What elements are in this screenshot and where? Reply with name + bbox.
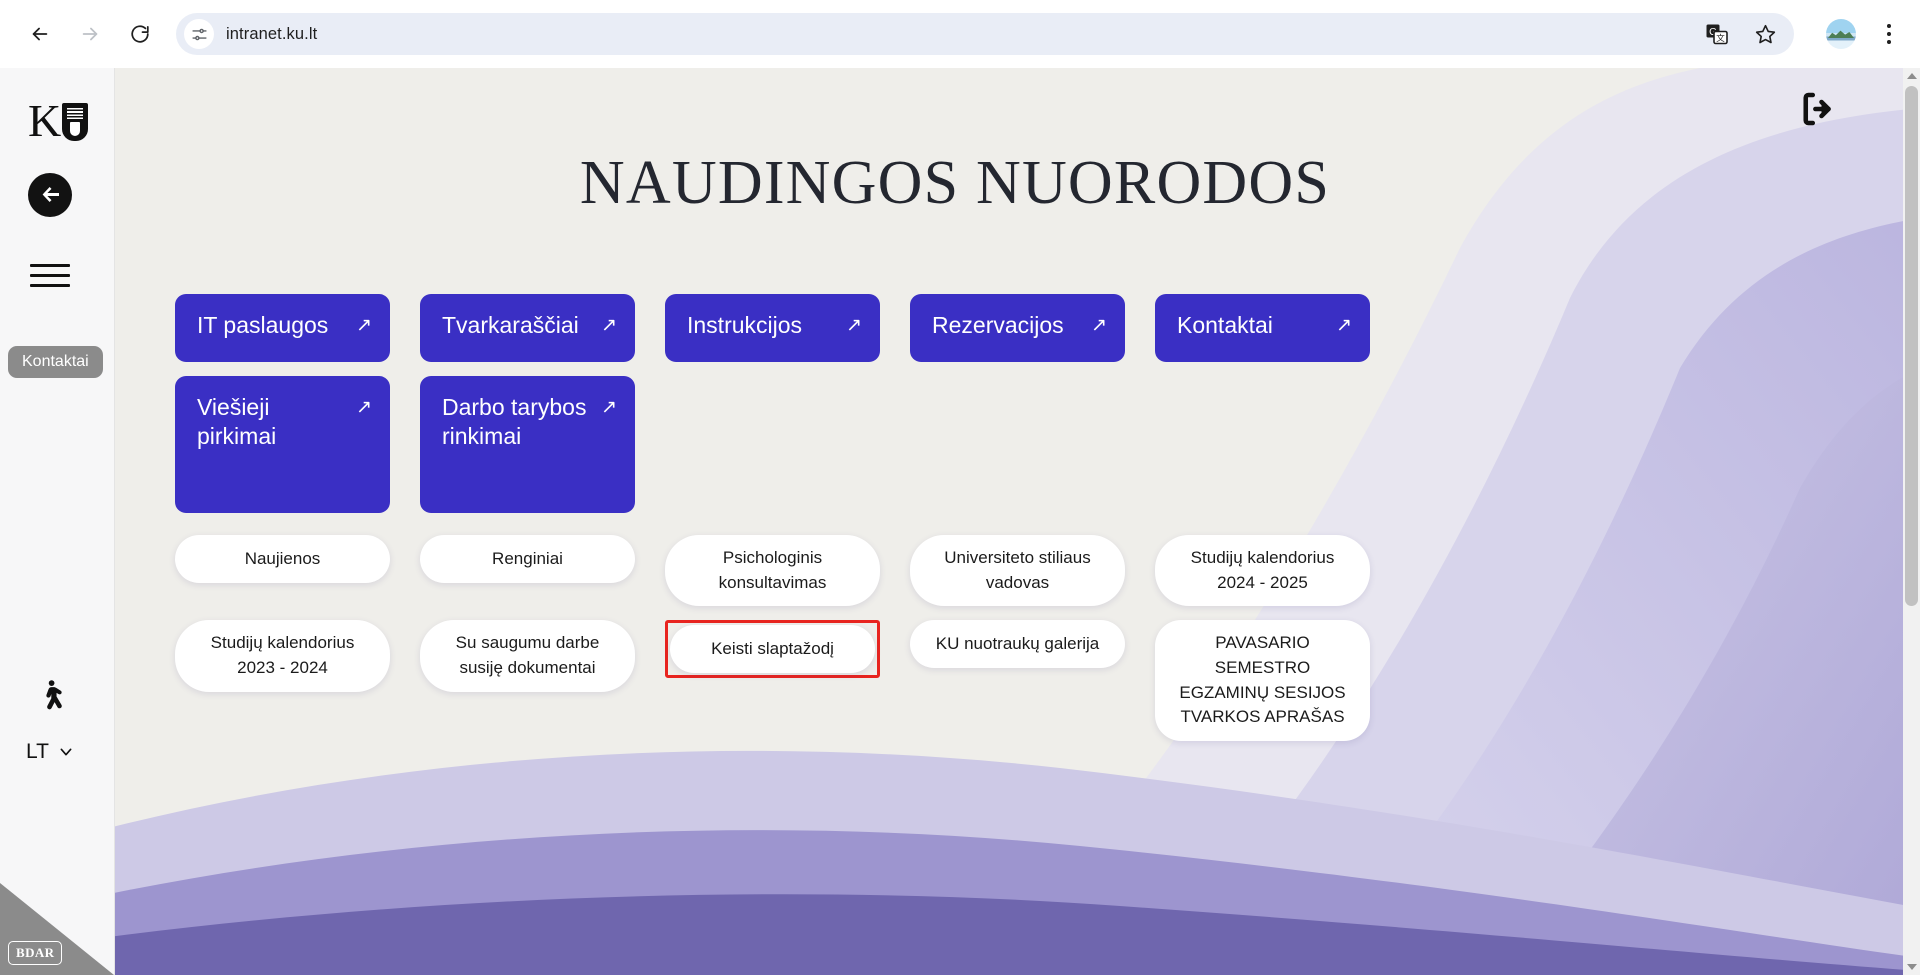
cookie-settings-badge[interactable]: BDAR — [8, 941, 62, 965]
link-psichologinis-konsultavimas[interactable]: Psichologinis konsultavimas — [665, 535, 880, 606]
address-bar[interactable]: intranet.ku.lt G文 — [176, 13, 1794, 55]
link-label: IT paslaugos — [197, 311, 328, 340]
link-label: Darbo tarybos rinkimai — [442, 393, 591, 452]
link-label: Kontaktai — [1177, 311, 1273, 340]
scrollbar-thumb[interactable] — [1905, 86, 1918, 606]
translate-icon[interactable]: G文 — [1704, 21, 1730, 47]
browser-menu-button[interactable] — [1876, 24, 1902, 44]
page-scrollbar[interactable] — [1903, 68, 1920, 975]
link-viesieji-pirkimai[interactable]: Viešieji pirkimai ↗ — [175, 376, 390, 513]
external-link-arrow-icon: ↗ — [601, 311, 617, 335]
link-renginiai[interactable]: Renginiai — [420, 535, 635, 583]
link-label: Viešieji pirkimai — [197, 393, 346, 452]
svg-text:文: 文 — [1716, 33, 1725, 43]
sidebar-tooltip-kontaktai: Kontaktai — [8, 346, 103, 378]
language-selector[interactable]: LT — [26, 740, 74, 764]
external-link-arrow-icon: ↗ — [846, 311, 862, 335]
link-rezervacijos[interactable]: Rezervacijos ↗ — [910, 294, 1125, 362]
primary-links-row-1: IT paslaugos ↗ Tvarkaraščiai ↗ Instrukci… — [175, 294, 1505, 362]
secondary-links-row-1: Naujienos Renginiai Psichologinis konsul… — [175, 535, 1505, 606]
secondary-links-row-2: Studijų kalendorius 2023 - 2024 Su saugu… — [175, 620, 1505, 741]
main-content: NAUDINGOS NUORODOS IT paslaugos ↗ Tvarka… — [115, 68, 1903, 975]
page-viewport: K Kontaktai LT BDAR NAUDINGOS NUORODO — [0, 68, 1920, 975]
link-naujienos[interactable]: Naujienos — [175, 535, 390, 583]
link-studiju-kalendorius-2023-2024[interactable]: Studijų kalendorius 2023 - 2024 — [175, 620, 390, 691]
arrow-left-icon — [38, 183, 62, 207]
link-instrukcijos[interactable]: Instrukcijos ↗ — [665, 294, 880, 362]
browser-forward-button[interactable] — [68, 12, 112, 56]
scroll-up-arrow-icon[interactable] — [1907, 73, 1917, 79]
ku-crest-icon — [62, 103, 88, 141]
link-label: Instrukcijos — [687, 311, 802, 340]
highlight-annotation: Keisti slaptažodį — [665, 620, 880, 678]
external-link-arrow-icon: ↗ — [601, 393, 617, 417]
link-studiju-kalendorius-2024-2025[interactable]: Studijų kalendorius 2024 - 2025 — [1155, 535, 1370, 606]
external-link-arrow-icon: ↗ — [356, 311, 372, 335]
link-universiteto-stiliaus-vadovas[interactable]: Universiteto stiliaus vadovas — [910, 535, 1125, 606]
sidebar-menu-button[interactable] — [28, 253, 72, 297]
external-link-arrow-icon: ↗ — [1091, 311, 1107, 335]
links-grid: IT paslaugos ↗ Tvarkaraščiai ↗ Instrukci… — [175, 294, 1505, 755]
browser-back-button[interactable] — [18, 12, 62, 56]
link-label: Rezervacijos — [932, 311, 1064, 340]
sidebar-back-button[interactable] — [28, 173, 72, 217]
logout-icon — [1797, 88, 1839, 130]
link-label: Tvarkaraščiai — [442, 311, 579, 340]
ku-logo[interactable]: K — [28, 100, 88, 142]
link-it-paslaugos[interactable]: IT paslaugos ↗ — [175, 294, 390, 362]
ku-logo-letter: K — [28, 100, 61, 142]
address-bar-url: intranet.ku.lt — [226, 25, 317, 44]
link-keisti-slaptazodi[interactable]: Keisti slaptažodį — [670, 625, 875, 673]
language-code: LT — [26, 740, 49, 764]
bookmark-star-icon[interactable] — [1752, 21, 1778, 47]
logout-button[interactable] — [1797, 88, 1841, 132]
link-tvarkarasciai[interactable]: Tvarkaraščiai ↗ — [420, 294, 635, 362]
link-darbo-tarybos-rinkimai[interactable]: Darbo tarybos rinkimai ↗ — [420, 376, 635, 513]
browser-toolbar: intranet.ku.lt G文 — [0, 0, 1920, 68]
external-link-arrow-icon: ↗ — [1336, 311, 1352, 335]
link-su-saugumu-darbe-dokumentai[interactable]: Su saugumu darbe susiję dokumentai — [420, 620, 635, 691]
site-settings-icon[interactable] — [184, 19, 214, 49]
link-ku-nuotrauku-galerija[interactable]: KU nuotraukų galerija — [910, 620, 1125, 668]
browser-reload-button[interactable] — [118, 12, 162, 56]
external-link-arrow-icon: ↗ — [356, 393, 372, 417]
scroll-down-arrow-icon[interactable] — [1907, 964, 1917, 970]
accessibility-icon[interactable] — [33, 678, 69, 714]
chevron-down-icon — [58, 744, 74, 760]
left-sidebar: K Kontaktai LT BDAR — [0, 68, 115, 975]
link-kontaktai[interactable]: Kontaktai ↗ — [1155, 294, 1370, 362]
primary-links-row-2: Viešieji pirkimai ↗ Darbo tarybos rinkim… — [175, 376, 1505, 513]
profile-avatar[interactable] — [1826, 19, 1856, 49]
page-title: NAUDINGOS NUORODOS — [115, 148, 1795, 219]
link-pavasario-semestro-egzaminu-sesijos-aprasas[interactable]: PAVASARIO SEMESTRO EGZAMINŲ SESIJOS TVAR… — [1155, 620, 1370, 741]
